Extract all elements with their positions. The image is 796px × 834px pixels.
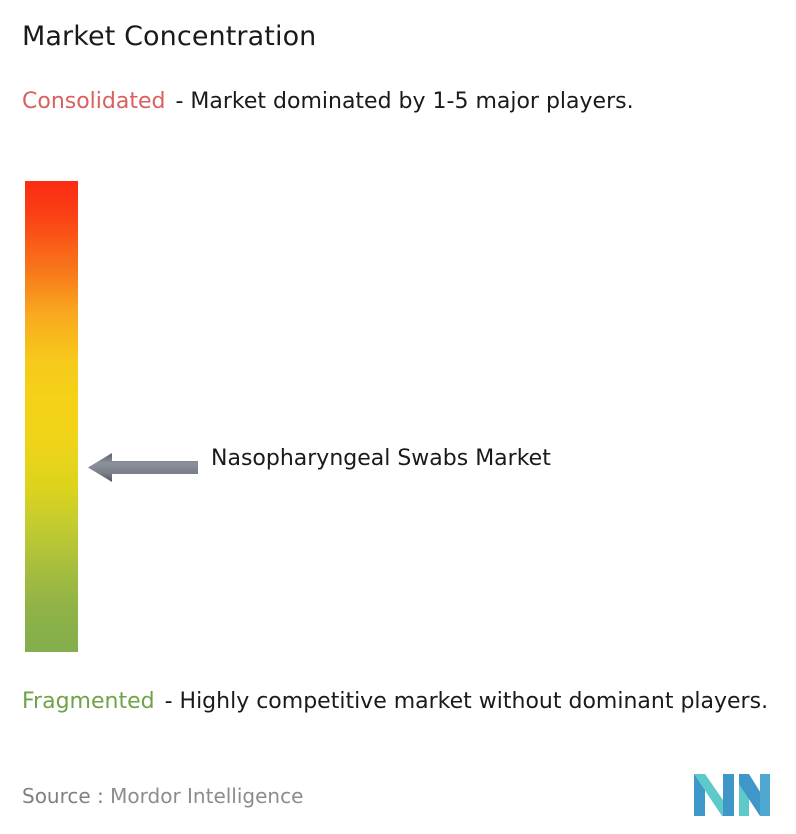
legend-fragmented: Fragmented- Highly competitive market wi… — [22, 686, 792, 718]
legend-fragmented-description: - Highly competitive market without domi… — [165, 689, 768, 714]
source-label: Source : — [22, 784, 104, 808]
callout-arrow — [88, 451, 198, 484]
source-attribution: Source : Mordor Intelligence — [22, 783, 303, 809]
callout-label: Nasopharyngeal Swabs Market — [211, 441, 631, 476]
mordor-intelligence-logo-icon — [694, 768, 770, 816]
legend-fragmented-term: Fragmented — [22, 689, 155, 714]
market-concentration-gradient-bar — [25, 181, 78, 652]
legend-consolidated-description: - Market dominated by 1-5 major players. — [175, 89, 633, 114]
chart-canvas: Market Concentration Consolidated- Marke… — [0, 0, 796, 834]
legend-consolidated: Consolidated- Market dominated by 1-5 ma… — [22, 86, 772, 118]
left-arrow-icon — [88, 453, 198, 482]
source-value: Mordor Intelligence — [110, 784, 303, 808]
page-title: Market Concentration — [22, 20, 316, 54]
legend-consolidated-term: Consolidated — [22, 89, 165, 114]
